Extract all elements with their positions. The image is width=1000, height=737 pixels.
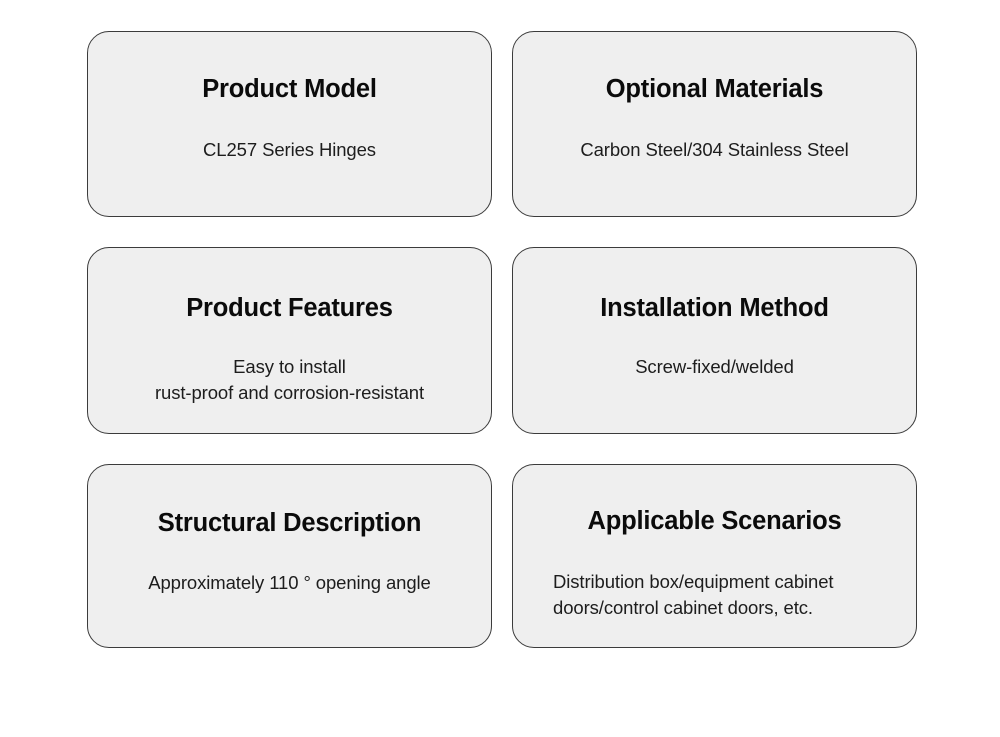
card-body-structural-description: Approximately 110 ° opening angle [148,570,430,596]
card-body-product-model: CL257 Series Hinges [203,137,376,163]
card-body-applicable-scenarios: Distribution box/equipment cabinet doors… [553,569,833,622]
spec-card-installation-method: Installation Method Screw-fixed/welded [512,247,917,434]
card-title-structural-description: Structural Description [158,509,421,537]
spec-card-applicable-scenarios: Applicable Scenarios Distribution box/eq… [512,464,917,648]
card-body-installation-method: Screw-fixed/welded [635,354,794,380]
spec-card-grid: Product Model CL257 Series Hinges Option… [87,31,917,644]
card-body-product-features: Easy to install rust-proof and corrosion… [155,354,424,407]
card-body-optional-materials: Carbon Steel/304 Stainless Steel [580,137,848,163]
spec-card-product-features: Product Features Easy to install rust-pr… [87,247,492,434]
spec-card-optional-materials: Optional Materials Carbon Steel/304 Stai… [512,31,917,217]
card-title-product-model: Product Model [202,75,376,103]
spec-card-product-model: Product Model CL257 Series Hinges [87,31,492,217]
card-title-optional-materials: Optional Materials [606,75,823,103]
card-title-applicable-scenarios: Applicable Scenarios [588,507,842,535]
spec-card-structural-description: Structural Description Approximately 110… [87,464,492,648]
card-title-installation-method: Installation Method [600,294,829,322]
card-title-product-features: Product Features [186,294,393,322]
